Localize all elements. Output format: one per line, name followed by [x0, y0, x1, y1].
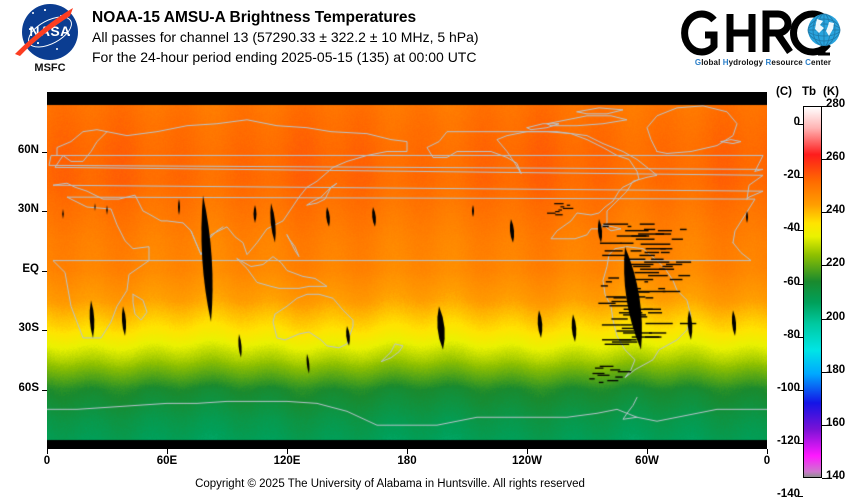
- colorbar-tick-mark: [798, 390, 803, 391]
- colorbar-quantity-label: Tb: [802, 86, 816, 98]
- colorbar-tick-mark: [822, 265, 827, 266]
- lon-tick: [647, 449, 648, 454]
- colorbar-kelvin-tick: 240: [826, 204, 845, 216]
- page-subtitle-period: For the 24-hour period ending 2025-05-15…: [92, 47, 479, 67]
- colorbar-celsius-tick: -100: [774, 382, 800, 394]
- lat-label-30N: 30N: [18, 203, 39, 215]
- lon-tick: [767, 449, 768, 454]
- lon-tick: [407, 449, 408, 454]
- lat-tick: [42, 211, 47, 212]
- colorbar-celsius-tick: 0: [774, 116, 800, 128]
- colorbar-tick-mark: [822, 212, 827, 213]
- colorbar-kelvin-tick: 160: [826, 417, 845, 429]
- lon-label-0: 0: [44, 455, 50, 467]
- lon-tick: [527, 449, 528, 454]
- nasa-logo: NASA MSFC: [14, 4, 84, 80]
- colorbar-tick-mark: [822, 478, 827, 479]
- colorbar-tick-mark: [798, 177, 803, 178]
- colorbar-unit-kelvin: (K): [823, 86, 839, 98]
- colorbar-tick-mark: [822, 425, 827, 426]
- colorbar-tick-mark: [798, 124, 803, 125]
- lon-tick: [287, 449, 288, 454]
- colorbar-kelvin-tick: 140: [826, 470, 845, 482]
- map-raster: [47, 92, 767, 449]
- colorbar-tick-mark: [798, 230, 803, 231]
- lat-label-EQ: EQ: [22, 263, 39, 275]
- colorbar-tick-mark: [822, 106, 827, 107]
- colorbar-kelvin-tick: 280: [826, 98, 845, 110]
- lat-label-30S: 30S: [19, 322, 39, 334]
- lon-label-60W: 60W: [635, 455, 659, 467]
- colorbar-unit-celsius: (C): [776, 86, 792, 98]
- lon-tick: [167, 449, 168, 454]
- brightness-temperature-map[interactable]: [47, 92, 767, 449]
- colorbar-kelvin-tick: 260: [826, 151, 845, 163]
- lat-tick: [42, 390, 47, 391]
- lon-label-120W: 120W: [512, 455, 542, 467]
- ghrc-tagline: Global Hydrology Resource Center: [680, 58, 846, 67]
- colorbar-celsius-tick: -80: [774, 329, 800, 341]
- lat-tick: [42, 271, 47, 272]
- lon-label-180: 180: [397, 455, 416, 467]
- nasa-swoosh-icon: [13, 6, 75, 58]
- ghrc-wordmark-icon: [678, 6, 848, 60]
- page-subtitle-channel: All passes for channel 13 (57290.33 ± 32…: [92, 27, 479, 47]
- colorbar-kelvin-tick: 200: [826, 311, 845, 323]
- lon-label-60E: 60E: [157, 455, 177, 467]
- page-header: NASA MSFC NOAA-15 AMSU-A Brightness Temp…: [0, 0, 854, 88]
- colorbar-celsius-tick: -120: [774, 435, 800, 447]
- lat-tick: [42, 330, 47, 331]
- copyright-notice: Copyright © 2025 The University of Alaba…: [0, 478, 780, 490]
- page-title: NOAA-15 AMSU-A Brightness Temperatures: [92, 8, 479, 27]
- lat-tick: [42, 152, 47, 153]
- colorbar-tick-mark: [798, 496, 803, 497]
- lon-tick: [47, 449, 48, 454]
- colorbar-gradient: [803, 106, 822, 478]
- colorbar-tick-mark: [798, 337, 803, 338]
- colorbar-tick-mark: [822, 372, 827, 373]
- colorbar: (C) Tb (K) 0-20-40-60-80-100-120-140 280…: [770, 86, 854, 486]
- colorbar-tick-mark: [822, 319, 827, 320]
- colorbar-celsius-tick: -40: [774, 222, 800, 234]
- title-block: NOAA-15 AMSU-A Brightness Temperatures A…: [92, 8, 479, 67]
- colorbar-celsius-tick: -20: [774, 169, 800, 181]
- colorbar-kelvin-tick: 180: [826, 364, 845, 376]
- globe-icon: [808, 14, 840, 54]
- ghrc-logo: Global Hydrology Resource Center: [678, 6, 848, 78]
- lat-label-60N: 60N: [18, 144, 39, 156]
- colorbar-tick-mark: [798, 284, 803, 285]
- colorbar-tick-mark: [798, 443, 803, 444]
- colorbar-celsius-tick: -60: [774, 276, 800, 288]
- lon-label-120E: 120E: [274, 455, 301, 467]
- colorbar-kelvin-tick: 220: [826, 257, 845, 269]
- lat-label-60S: 60S: [19, 382, 39, 394]
- nasa-center-label: MSFC: [14, 62, 86, 74]
- colorbar-tick-mark: [822, 159, 827, 160]
